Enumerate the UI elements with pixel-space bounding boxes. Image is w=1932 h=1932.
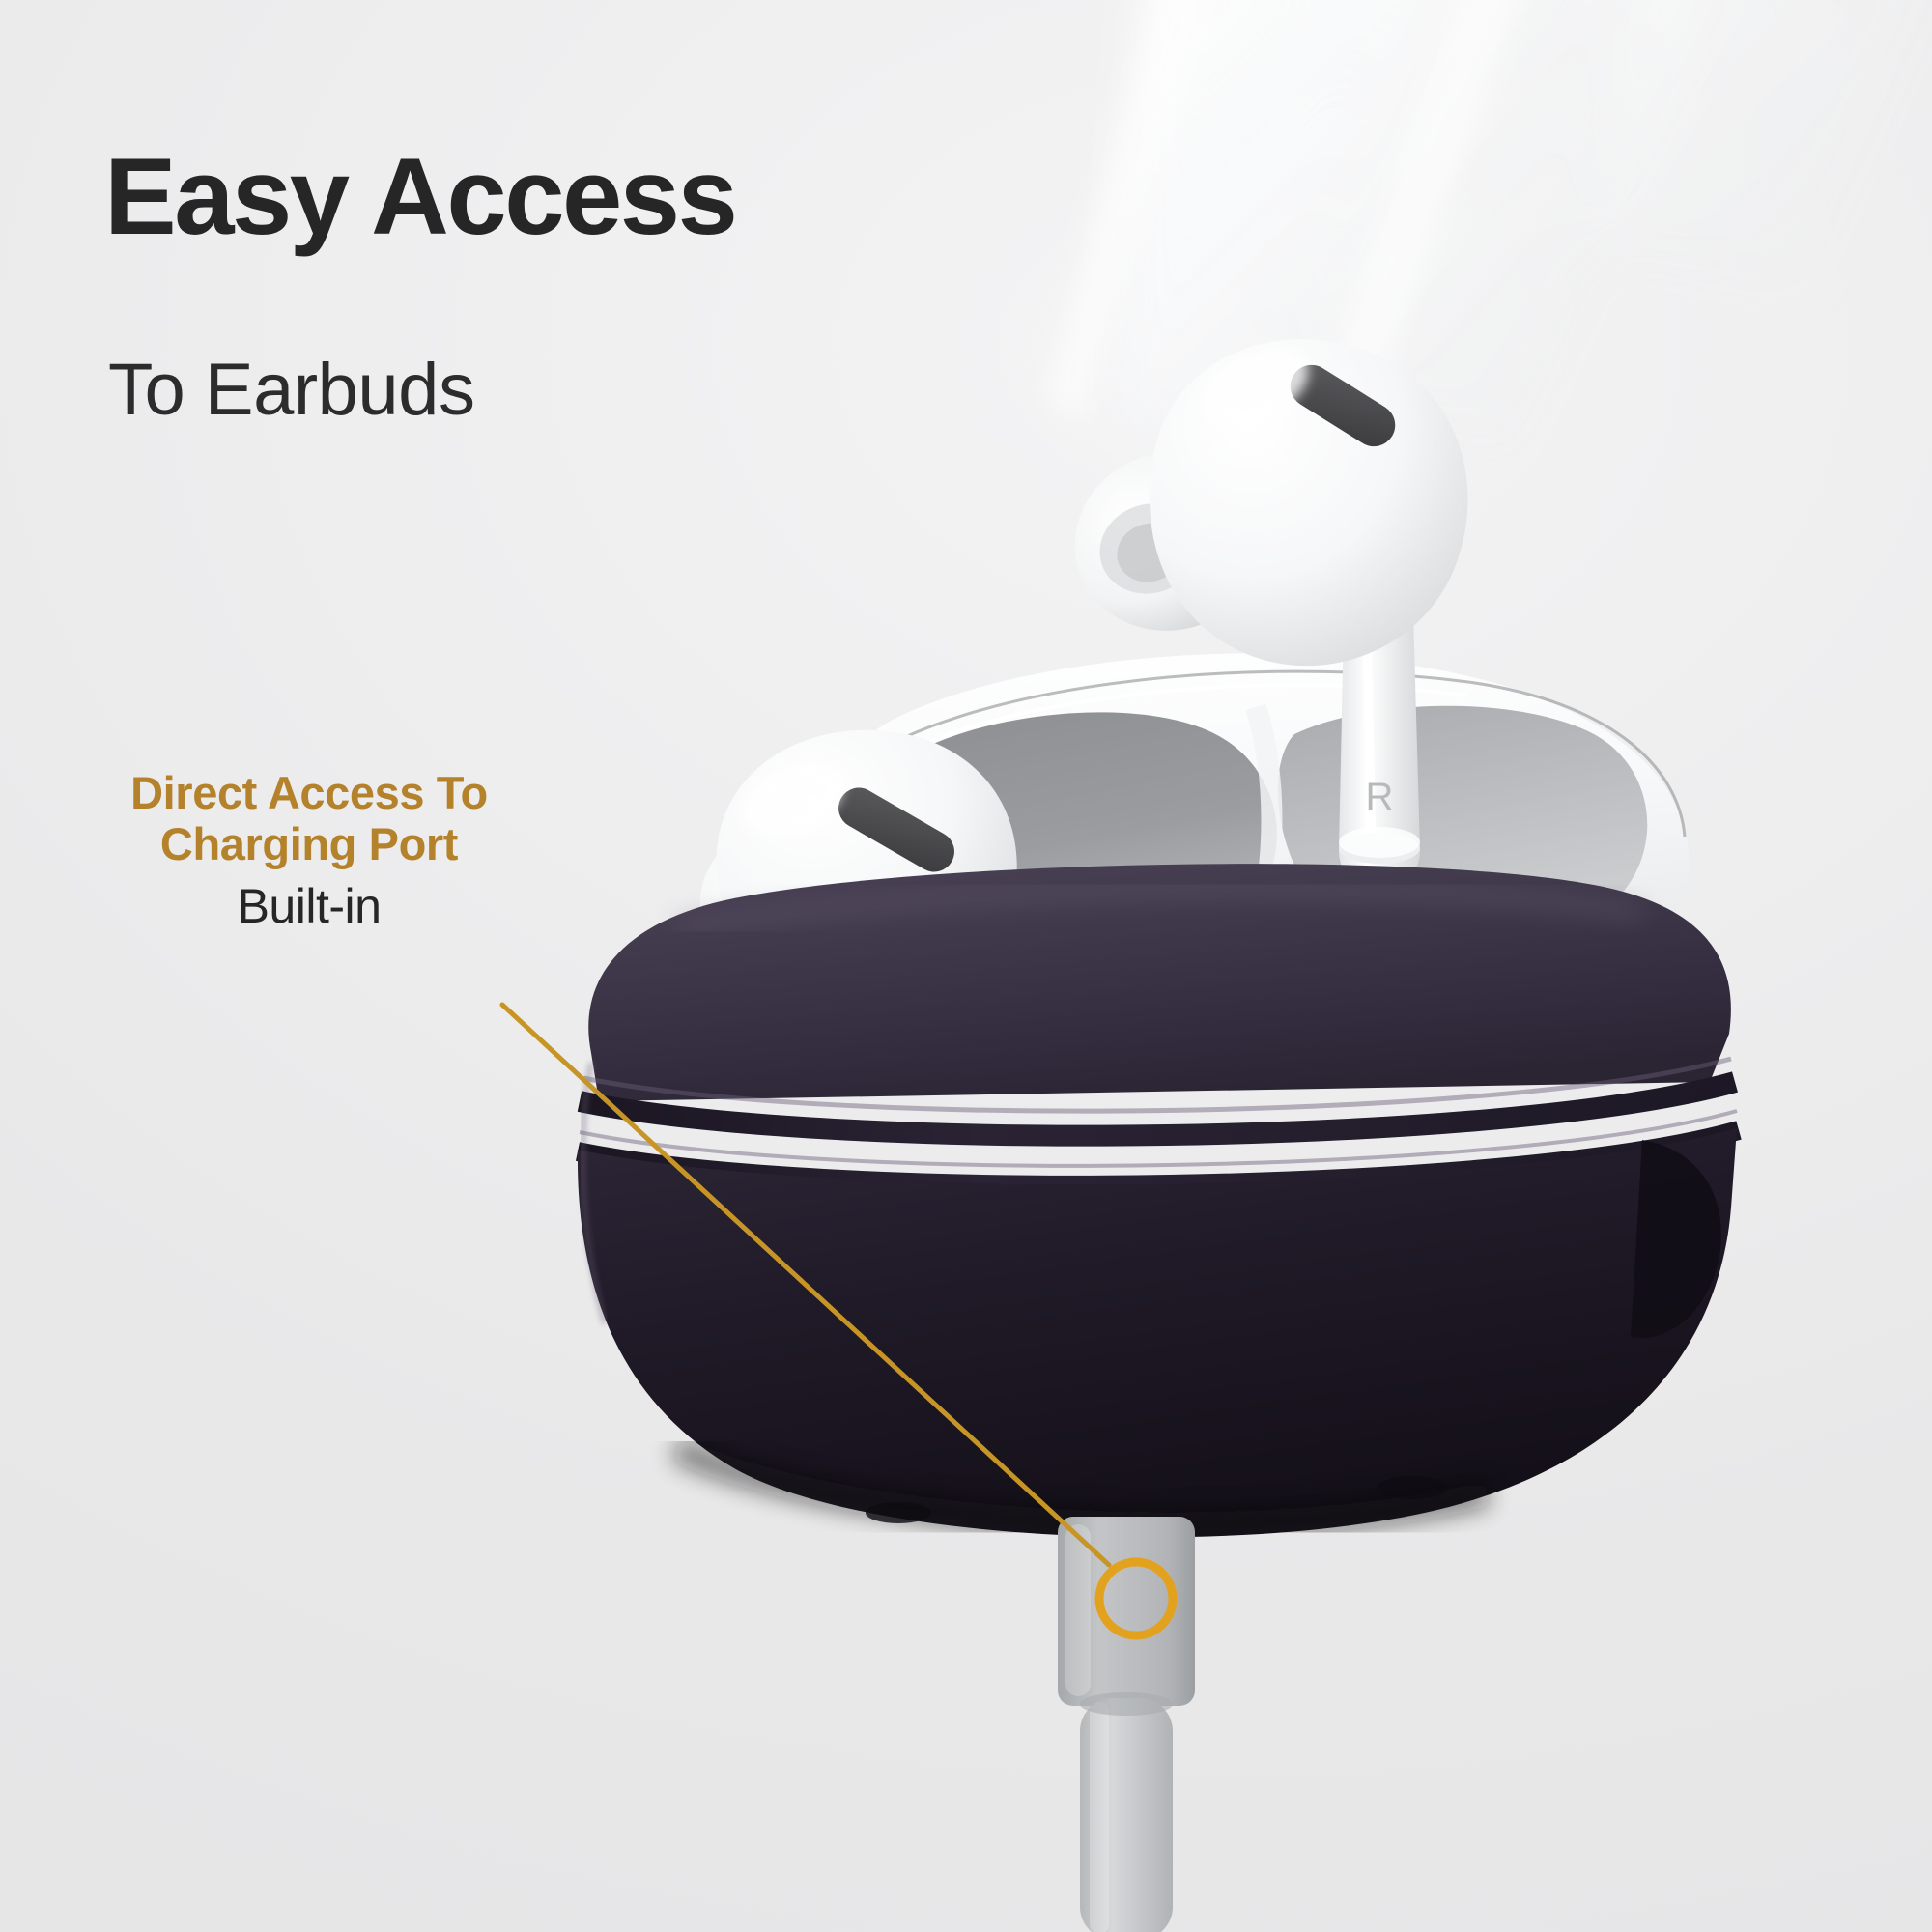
headline-subtitle: To Earbuds xyxy=(108,354,474,427)
callout-line-2: Charging Port xyxy=(0,819,618,870)
usb-c-charging-cable xyxy=(1058,1517,1195,1932)
earbud-right-label: R xyxy=(1366,776,1394,818)
product-photo: R xyxy=(0,0,1932,1932)
callout-line-3: Built-in xyxy=(0,879,618,933)
charging-port-callout: Direct Access To Charging Port Built-in xyxy=(0,768,618,933)
silicone-case xyxy=(578,864,1739,1537)
product-marketing-image: R xyxy=(0,0,1932,1932)
callout-line-1: Direct Access To xyxy=(0,768,618,819)
headline-title: Easy Access xyxy=(104,143,735,251)
